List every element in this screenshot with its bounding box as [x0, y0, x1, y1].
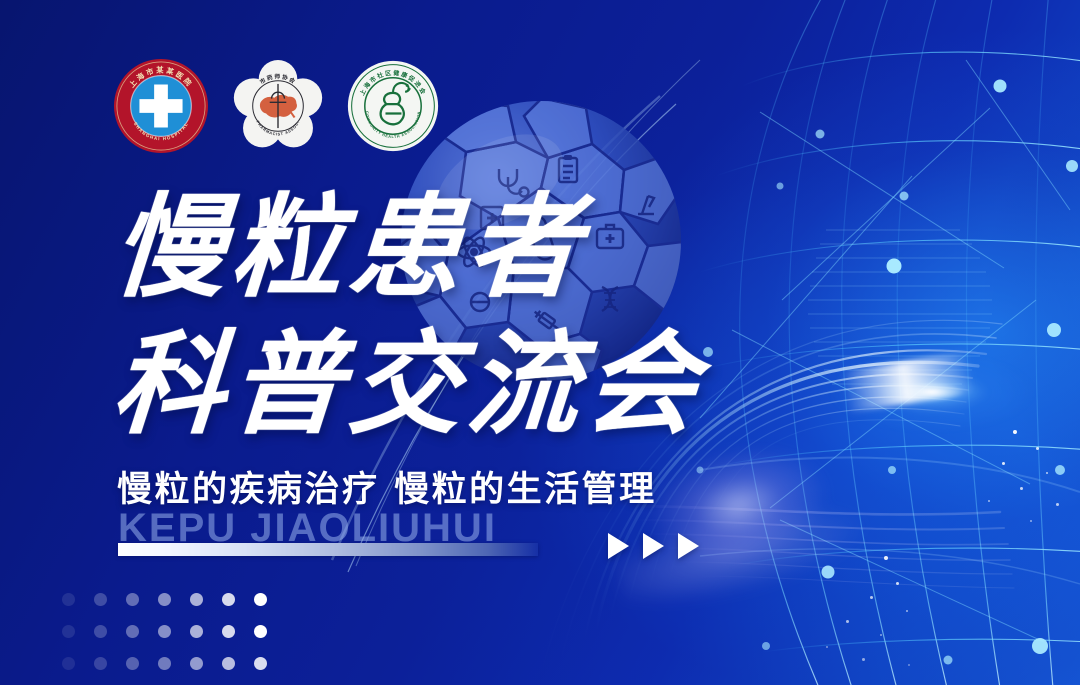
grid-dot [254, 657, 267, 670]
grid-dot [158, 625, 171, 638]
organization-logos: 上海市某某医院 SHANGHAI HOSPITAL [112, 57, 440, 160]
gradient-divider-bar [118, 543, 538, 556]
grid-dot [190, 657, 203, 670]
title-line-2: 科普交流会 [109, 323, 708, 448]
grid-dot [222, 657, 235, 670]
logo-pharmacy-association-emblem: 市药师协会 PHARMACIST ASSOC. [232, 60, 324, 157]
grid-dot [126, 625, 139, 638]
play-triangle-icon [608, 533, 629, 559]
decorative-dot-grid [52, 583, 276, 679]
page-title: 慢粒患者 科普交流会 [113, 186, 703, 449]
green-serpent-gourd-circle-icon: 上海市社区健康促进会 COMMUNITY HEALTH ASSOCIATION [346, 59, 440, 153]
grid-dot [254, 625, 267, 638]
grid-dot [126, 593, 139, 606]
white-petal-badge-china-map-icon: 市药师协会 PHARMACIST ASSOC. [232, 60, 324, 152]
grid-dot [62, 657, 75, 670]
logo-shanghai-hospital-emblem: 上海市某某医院 SHANGHAI HOSPITAL [112, 57, 210, 160]
grid-dot [158, 657, 171, 670]
grid-dot [126, 657, 139, 670]
grid-dot [190, 593, 203, 606]
grid-dot [94, 593, 107, 606]
grid-dot [94, 657, 107, 670]
subtitle: 慢粒的疾病治疗 慢粒的生活管理 [117, 461, 657, 512]
play-triangle-icon [678, 533, 699, 559]
arrow-indicators [608, 533, 699, 559]
grid-dot [94, 625, 107, 638]
grid-dot [254, 593, 267, 606]
grid-dot [62, 593, 75, 606]
grid-dot [158, 593, 171, 606]
title-line-1: 慢粒患者 [109, 186, 708, 311]
poster-canvas: 上海市某某医院 SHANGHAI HOSPITAL [0, 0, 1080, 685]
grid-dot [190, 625, 203, 638]
grid-dot [222, 593, 235, 606]
red-ring-blue-disc-white-cross-icon: 上海市某某医院 SHANGHAI HOSPITAL [112, 57, 210, 155]
play-triangle-icon [643, 533, 664, 559]
grid-dot [62, 625, 75, 638]
grid-dot [222, 625, 235, 638]
logo-community-health-association-emblem: 上海市社区健康促进会 COMMUNITY HEALTH ASSOCIATION [346, 59, 440, 158]
